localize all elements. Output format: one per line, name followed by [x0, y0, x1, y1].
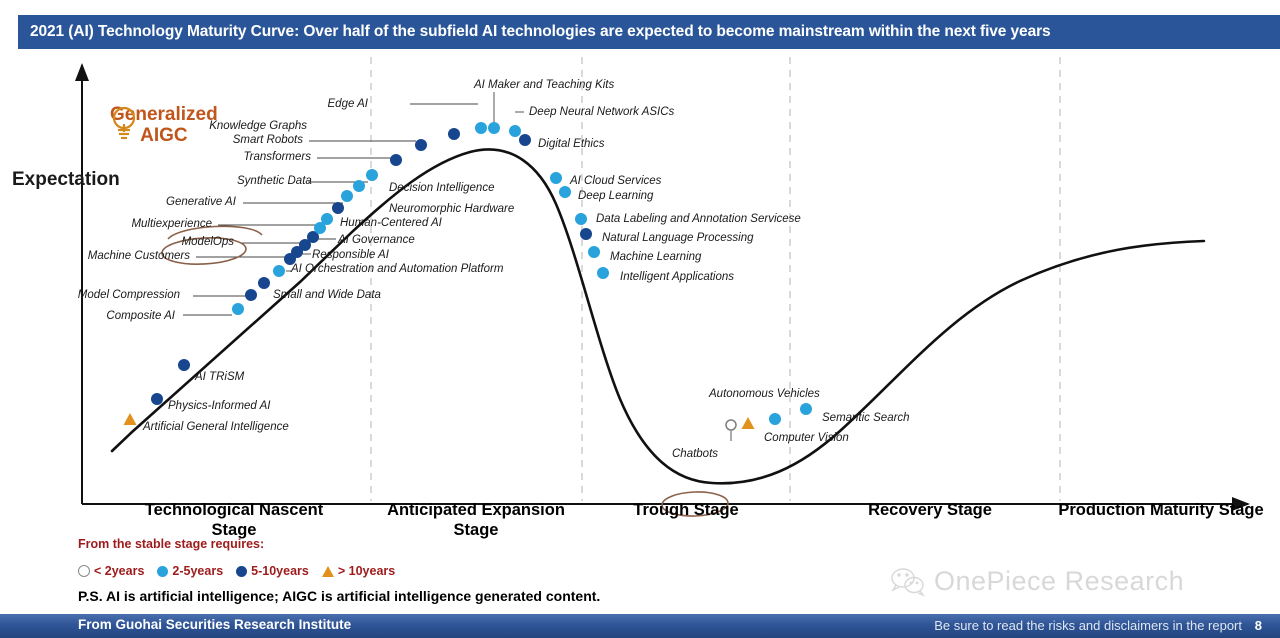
technology-marker[interactable]: [597, 267, 609, 279]
stage-label: Anticipated Expansion Stage: [366, 500, 586, 540]
legend: < 2years2-5years5-10years> 10years: [78, 564, 395, 578]
technology-label: Decision Intelligence: [389, 182, 494, 195]
legend-item: > 10years: [322, 564, 395, 578]
technology-marker[interactable]: [366, 169, 378, 181]
technology-label: Synthetic Data: [237, 175, 312, 188]
technology-marker[interactable]: [448, 128, 460, 140]
technology-label: AI Orchestration and Automation Platform: [291, 263, 503, 276]
footer-page-number: 8: [1255, 618, 1262, 633]
technology-marker[interactable]: [580, 228, 592, 240]
technology-label: Semantic Search: [822, 412, 910, 425]
technology-label: AI Cloud Services: [570, 175, 661, 188]
technology-label: Composite AI: [106, 310, 175, 323]
technology-label: Edge AI: [328, 98, 369, 111]
technology-label: Autonomous Vehicles: [709, 388, 820, 401]
legend-item-label: 5-10years: [251, 564, 309, 578]
technology-marker[interactable]: [151, 393, 163, 405]
open-circle-icon: [78, 565, 90, 577]
technology-label: Data Labeling and Annotation Servicese: [596, 213, 801, 226]
technology-label: Multiexperience: [131, 218, 212, 231]
technology-label: AI Maker and Teaching Kits: [474, 79, 614, 92]
footer-disclaimer: Be sure to read the risks and disclaimer…: [934, 618, 1242, 633]
technology-label: Physics-Informed AI: [168, 400, 270, 413]
technology-label: Deep Learning: [578, 190, 653, 203]
technology-marker[interactable]: [178, 359, 190, 371]
technology-marker[interactable]: [124, 413, 137, 425]
technology-marker[interactable]: [245, 289, 257, 301]
technology-label: AI Governance: [338, 234, 415, 247]
technology-label: Generative AI: [166, 196, 236, 209]
technology-marker[interactable]: [475, 122, 487, 134]
technology-marker[interactable]: [742, 417, 755, 429]
technology-marker[interactable]: [321, 213, 333, 225]
technology-marker[interactable]: [488, 122, 500, 134]
footer-source: From Guohai Securities Research Institut…: [78, 617, 351, 632]
page-title: 2021 (AI) Technology Maturity Curve: Ove…: [18, 23, 1051, 41]
technology-marker[interactable]: [726, 420, 736, 430]
y-axis-label: Expectation: [12, 173, 120, 186]
legend-item-label: > 10years: [338, 564, 395, 578]
legend-item-label: 2-5years: [172, 564, 223, 578]
technology-label: Neuromorphic Hardware: [389, 203, 514, 216]
technology-label: Natural Language Processing: [602, 232, 754, 245]
technology-label: AI TRiSM: [195, 371, 244, 384]
technology-marker[interactable]: [800, 403, 812, 415]
technology-marker[interactable]: [509, 125, 521, 137]
legend-item: 5-10years: [236, 564, 309, 578]
technology-label: Deep Neural Network ASICs: [529, 106, 674, 119]
legend-item: 2-5years: [157, 564, 223, 578]
technology-label: Artificial General Intelligence: [143, 421, 289, 434]
light-dot-icon: [157, 566, 168, 577]
technology-marker[interactable]: [769, 413, 781, 425]
technology-marker[interactable]: [550, 172, 562, 184]
hype-curve-chart: Expectation Generalized AIGC Artificial …: [0, 49, 1280, 519]
stage-label: Production Maturity Stage: [1051, 500, 1271, 520]
technology-label: Machine Customers: [88, 250, 190, 263]
stage-label: Recovery Stage: [820, 500, 1040, 520]
technology-marker[interactable]: [588, 246, 600, 258]
technology-marker[interactable]: [232, 303, 244, 315]
dark-dot-icon: [236, 566, 247, 577]
technology-label: Intelligent Applications: [620, 271, 734, 284]
technology-label: Small and Wide Data: [273, 289, 381, 302]
slide-title-bar: 2021 (AI) Technology Maturity Curve: Ove…: [18, 15, 1280, 49]
legend-item: < 2years: [78, 564, 144, 578]
technology-label: Knowledge Graphs: [209, 120, 307, 133]
stage-label: Trough Stage: [576, 500, 796, 520]
legend-title: From the stable stage requires:: [78, 537, 264, 551]
technology-marker[interactable]: [415, 139, 427, 151]
technology-marker[interactable]: [575, 213, 587, 225]
technology-marker[interactable]: [519, 134, 531, 146]
technology-label: Digital Ethics: [538, 138, 604, 151]
technology-marker[interactable]: [258, 277, 270, 289]
legend-item-label: < 2years: [94, 564, 144, 578]
technology-marker[interactable]: [273, 265, 285, 277]
technology-label: Machine Learning: [610, 251, 701, 264]
technology-marker[interactable]: [332, 202, 344, 214]
lightbulb-icon: [110, 104, 138, 144]
technology-label: Computer Vision: [764, 432, 849, 445]
technology-label: Model Compression: [78, 289, 180, 302]
technology-label: Human-Centered AI: [340, 217, 442, 230]
technology-marker[interactable]: [390, 154, 402, 166]
stage-label: Technological Nascent Stage: [124, 500, 344, 540]
watermark-text: OnePiece Research: [934, 566, 1184, 597]
technology-label: Smart Robots: [233, 134, 303, 147]
triangle-icon: [322, 566, 334, 577]
watermark: OnePiece Research: [890, 566, 1184, 597]
technology-label: ModelOps: [182, 236, 234, 249]
wechat-icon: [890, 567, 926, 597]
technology-marker[interactable]: [353, 180, 365, 192]
technology-label: Transformers: [243, 151, 311, 164]
technology-label: Responsible AI: [312, 249, 389, 262]
technology-label: Chatbots: [672, 448, 718, 461]
generalized-aigc-callout: Generalized AIGC: [110, 104, 218, 146]
technology-marker[interactable]: [341, 190, 353, 202]
ps-note: P.S. AI is artificial intelligence; AIGC…: [78, 588, 600, 604]
